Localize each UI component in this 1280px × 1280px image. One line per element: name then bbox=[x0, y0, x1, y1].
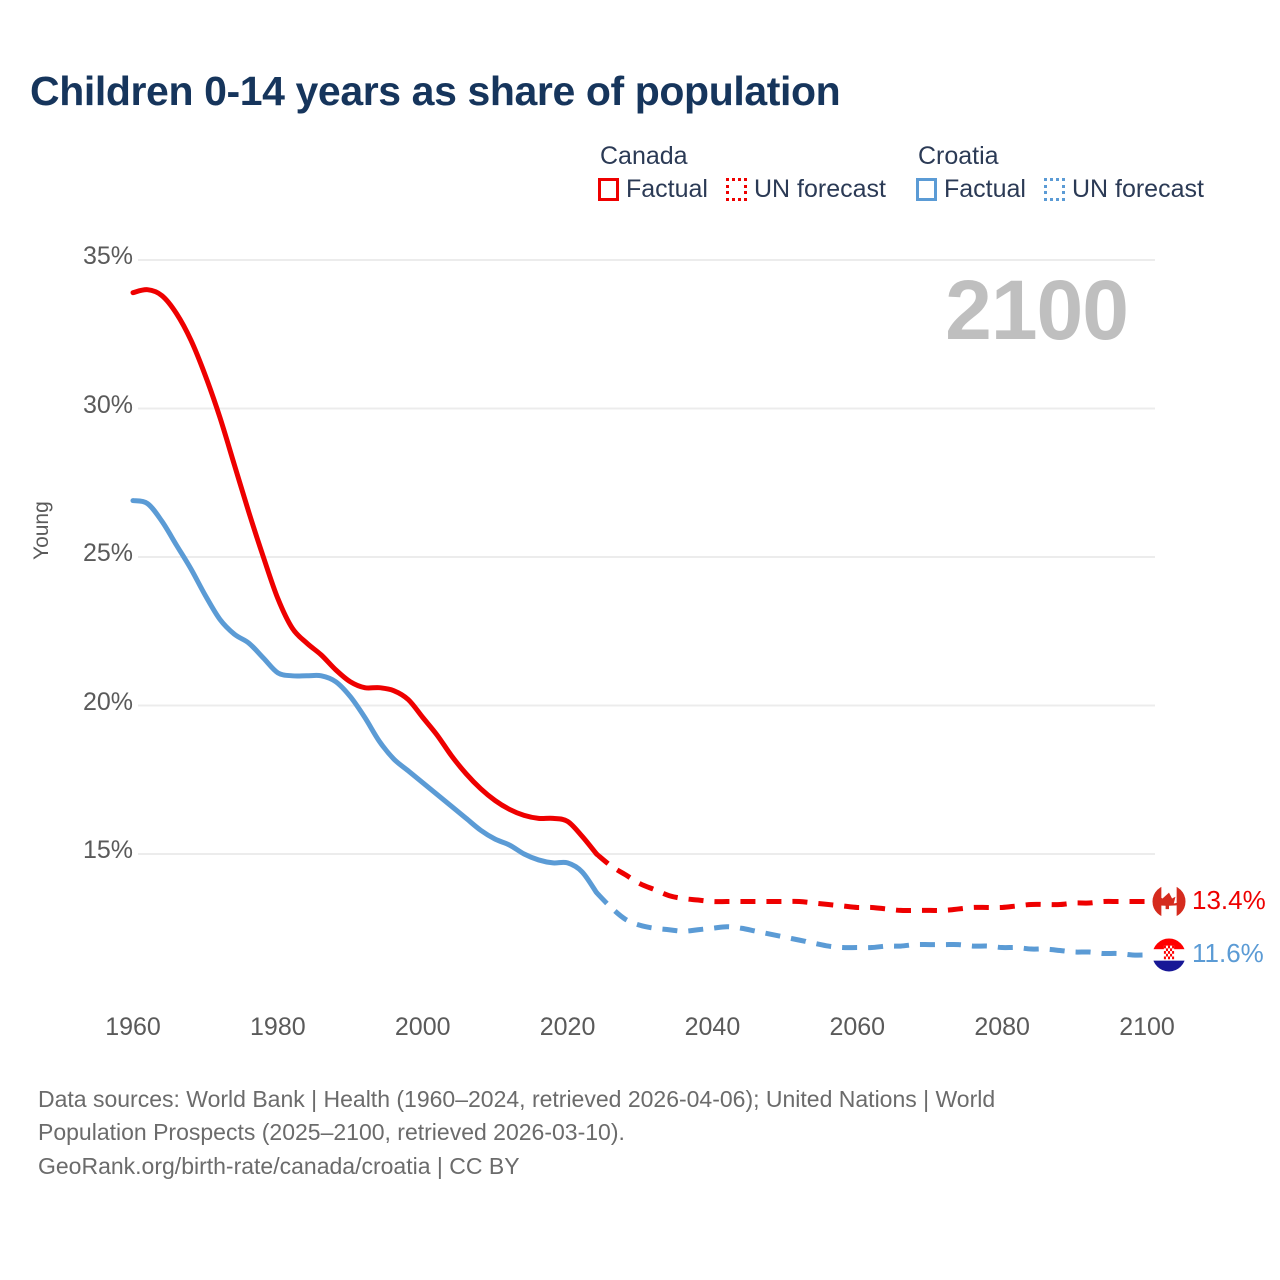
croatia-flag-icon bbox=[1152, 938, 1186, 972]
y-axis-tick-label: 20% bbox=[83, 688, 133, 717]
y-axis-tick-label: 15% bbox=[83, 836, 133, 865]
y-axis-tick-label: 35% bbox=[83, 242, 133, 271]
canada-flag-icon bbox=[1152, 885, 1186, 919]
x-axis-tick-label: 2080 bbox=[974, 1013, 1030, 1042]
x-axis-tick-label: 1960 bbox=[105, 1013, 161, 1042]
y-axis-tick-label: 30% bbox=[83, 391, 133, 420]
footer-line-2: Population Prospects (2025–2100, retriev… bbox=[38, 1116, 1198, 1149]
footer-credits: Data sources: World Bank | Health (1960–… bbox=[38, 1083, 1198, 1183]
y-axis-tick-label: 25% bbox=[83, 539, 133, 568]
x-axis-tick-label: 2100 bbox=[1119, 1013, 1175, 1042]
footer-line-1: Data sources: World Bank | Health (1960–… bbox=[38, 1083, 1198, 1116]
x-axis-tick-label: 2000 bbox=[395, 1013, 451, 1042]
x-axis-tick-label: 2040 bbox=[685, 1013, 741, 1042]
line-croatia-factual bbox=[133, 501, 597, 893]
chart-page: Children 0-14 years as share of populati… bbox=[0, 0, 1280, 1280]
footer-line-3: GeoRank.org/birth-rate/canada/croatia | … bbox=[38, 1150, 1198, 1183]
line-canada-forecast bbox=[597, 854, 1147, 911]
end-value-croatia: 11.6% bbox=[1192, 938, 1264, 969]
x-axis-tick-label: 2020 bbox=[540, 1013, 596, 1042]
end-value-canada: 13.4% bbox=[1192, 885, 1266, 916]
x-axis-tick-label: 2060 bbox=[829, 1013, 885, 1042]
line-canada-factual bbox=[133, 290, 597, 854]
x-axis-tick-label: 1980 bbox=[250, 1013, 306, 1042]
